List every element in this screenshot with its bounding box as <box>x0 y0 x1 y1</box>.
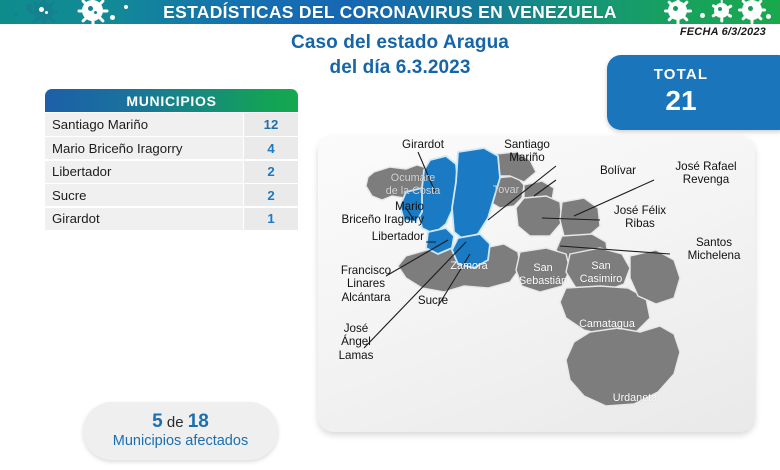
map-callout-jose-rafael-revenga: José Rafael Revenga <box>664 160 748 187</box>
map-callout-mbi-line2: Briceño Iragorry <box>342 213 424 226</box>
map-callout-fla-line1: Francisco <box>341 264 391 277</box>
map-label-camatagua: Camatagua <box>570 318 644 331</box>
region-ne-bulge <box>630 250 680 304</box>
affected-ratio: 5 de 18 <box>152 412 209 433</box>
table-header-municipios: MUNICIPIOS <box>45 89 298 112</box>
total-value: 21 <box>665 85 696 117</box>
municipio-count: 12 <box>244 113 298 135</box>
map-callout-santiago-marino: Santiago Mariño <box>494 138 560 165</box>
map-callout-girardot: Girardot <box>392 138 454 151</box>
map-callout-jfr-line1: José Félix <box>614 204 666 217</box>
affected-municipalities-badge: 5 de 18 Municipios afectados <box>83 402 278 460</box>
map-callout-jal-line1: José <box>344 322 369 335</box>
map-callout-jal-line3: Lamas <box>339 349 374 362</box>
map-callout-jose-felix-ribas: José Félix Ribas <box>602 204 678 231</box>
table-row[interactable]: Santiago Mariño 12 <box>45 113 298 135</box>
affected-subtitle: Municipios afectados <box>113 434 248 450</box>
date-label: FECHA 6/3/2023 <box>680 26 766 38</box>
map-callout-jfr-line2: Ribas <box>625 217 655 230</box>
map-label-san-sebastian-line1: San <box>533 262 552 274</box>
municipio-count: 2 <box>244 184 298 206</box>
municipio-name: Libertador <box>45 161 243 183</box>
map-callout-jrr-line2: Revenga <box>683 173 729 186</box>
map-callout-sm-line2: Michelena <box>688 249 741 262</box>
table-row[interactable]: Libertador 2 <box>45 161 298 183</box>
map-callout-jose-angel-lamas: José Ángel Lamas <box>330 322 382 362</box>
affected-count: 5 <box>152 411 163 432</box>
map-callout-jrr-line1: José Rafael <box>675 160 736 173</box>
map-callout-mbi-line1: Mario <box>395 200 424 213</box>
map-callout-fla-line3: Alcántara <box>342 291 391 304</box>
map-callout-libertador: Libertador <box>318 230 424 243</box>
infographic-root: ESTADÍSTICAS DEL CORONAVIRUS EN VENEZUEL… <box>0 0 780 470</box>
map-callout-sucre: Sucre <box>412 294 454 307</box>
banner-title: ESTADÍSTICAS DEL CORONAVIRUS EN VENEZUEL… <box>0 0 780 24</box>
municipios-table: MUNICIPIOS Santiago Mariño 12 Mario Bric… <box>45 89 298 230</box>
municipio-name: Girardot <box>45 208 243 230</box>
municipio-count: 1 <box>244 208 298 230</box>
map-label-san-sebastian: San Sebastián <box>512 262 574 287</box>
total-badge: TOTAL 21 <box>607 55 780 130</box>
table-row[interactable]: Sucre 2 <box>45 184 298 206</box>
municipio-count: 2 <box>244 161 298 183</box>
table-row[interactable]: Mario Briceño Iragorry 4 <box>45 137 298 159</box>
region-jose-rafael-revenga <box>560 198 600 238</box>
map-callout-santiago-marino-line2: Mariño <box>509 151 544 164</box>
municipio-name: Santiago Mariño <box>45 113 243 135</box>
map-label-urdaneta: Urdaneta <box>602 392 668 405</box>
map-label-ocumare-line2: de la Costa <box>386 185 441 197</box>
affected-total: 18 <box>188 411 209 432</box>
map-label-tovar: Tovar <box>484 184 528 197</box>
map-callout-santos-michelena: Santos Michelena <box>674 236 754 263</box>
map-label-ocumare-line1: Ocumare <box>391 172 435 184</box>
municipio-name: Sucre <box>45 184 243 206</box>
affected-connector: de <box>163 414 188 431</box>
map-label-san-casimiro-line1: San <box>591 260 610 272</box>
map-callout-fla-line2: Linares <box>347 277 385 290</box>
page-title-line1: Caso del estado Aragua <box>291 32 509 53</box>
page-title: Caso del estado Aragua del día 6.3.2023 <box>190 30 610 81</box>
map-callout-francisco-linares-alcantara: Francisco Linares Alcántara <box>326 264 406 304</box>
map-callout-santiago-marino-line1: Santiago <box>504 138 550 151</box>
total-badge-content: TOTAL 21 <box>607 55 755 130</box>
page-title-line2: del día 6.3.2023 <box>190 55 610 80</box>
map-label-zamora: Zamora <box>440 260 498 273</box>
header-banner: ESTADÍSTICAS DEL CORONAVIRUS EN VENEZUEL… <box>0 0 780 24</box>
total-label: TOTAL <box>654 67 709 82</box>
map-callout-bolivar: Bolívar <box>592 164 644 177</box>
map-label-san-casimiro-line2: Casimiro <box>580 273 623 285</box>
map-callout-sm-line1: Santos <box>696 236 732 249</box>
municipio-name: Mario Briceño Iragorry <box>45 137 243 159</box>
table-row[interactable]: Girardot 1 <box>45 208 298 230</box>
map-label-san-casimiro: San Casimiro <box>570 260 632 285</box>
municipio-count: 4 <box>244 137 298 159</box>
map-label-san-sebastian-line2: Sebastián <box>519 275 567 287</box>
map-callout-mario-briceno-iragorry: Mario Briceño Iragorry <box>318 200 424 227</box>
map-label-ocumare: Ocumare de la Costa <box>370 172 456 197</box>
map-callout-jal-line2: Ángel <box>341 335 371 348</box>
region-jose-felix-ribas <box>516 196 562 236</box>
